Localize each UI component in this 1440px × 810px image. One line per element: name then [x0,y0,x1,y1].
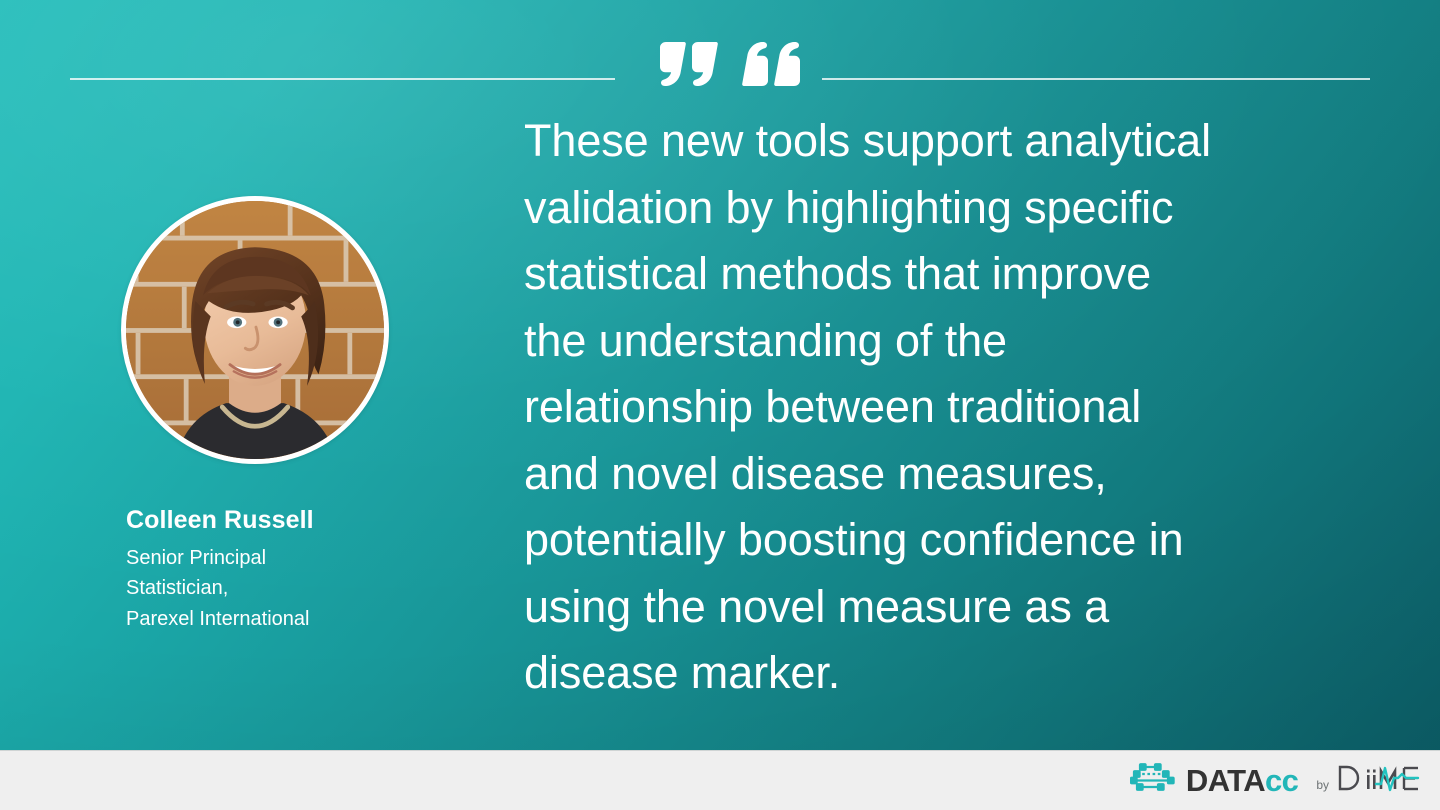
quotation-marks [660,42,800,104]
avatar [121,196,389,464]
brand-lockup: DATAcc by [1130,763,1440,798]
person-name: Colleen Russell [126,506,500,534]
attribution: Colleen Russell Senior Principal Statist… [0,506,500,634]
divider-line-left [70,78,615,80]
quote-text: These new tools support analytical valid… [524,108,1380,707]
quote-line: and novel disease measures, [524,441,1380,508]
dime-waveform-wordmark-icon [1336,763,1422,798]
data-network-lines-icon [1130,763,1176,798]
quote-line: using the novel measure as a [524,574,1380,641]
quote-line: statistical methods that improve [524,241,1380,308]
person-role: Senior Principal Statistician, Parexel I… [126,543,376,634]
top-decoration [0,0,1440,120]
quote-line: validation by highlighting specific [524,175,1380,242]
person-role-line: Senior Principal [126,543,376,573]
quote-line: the understanding of the [524,308,1380,375]
datacc-wordmark: DATAcc [1186,765,1298,796]
quote-line: relationship between traditional [524,374,1380,441]
quote-line: potentially boosting confidence in [524,507,1380,574]
open-quote-icon [660,42,718,86]
datacc-logo: DATAcc [1130,763,1298,798]
quote-line: disease marker. [524,640,1380,707]
by-label: by [1316,778,1329,792]
footer-bar: DATAcc by [0,750,1440,810]
person-role-line: Statistician, [126,573,376,603]
close-quote-icon [742,42,800,86]
person-role-line: Parexel International [126,604,376,634]
speaker-block: Colleen Russell Senior Principal Statist… [0,196,500,634]
by-dime-lockup: by [1316,763,1422,798]
brand-primary-text: DATA [1186,765,1265,796]
divider-line-right [822,78,1370,80]
quote-slide: Colleen Russell Senior Principal Statist… [0,0,1440,810]
quote-line: These new tools support analytical [524,108,1380,175]
brand-suffix-text: cc [1265,765,1298,796]
